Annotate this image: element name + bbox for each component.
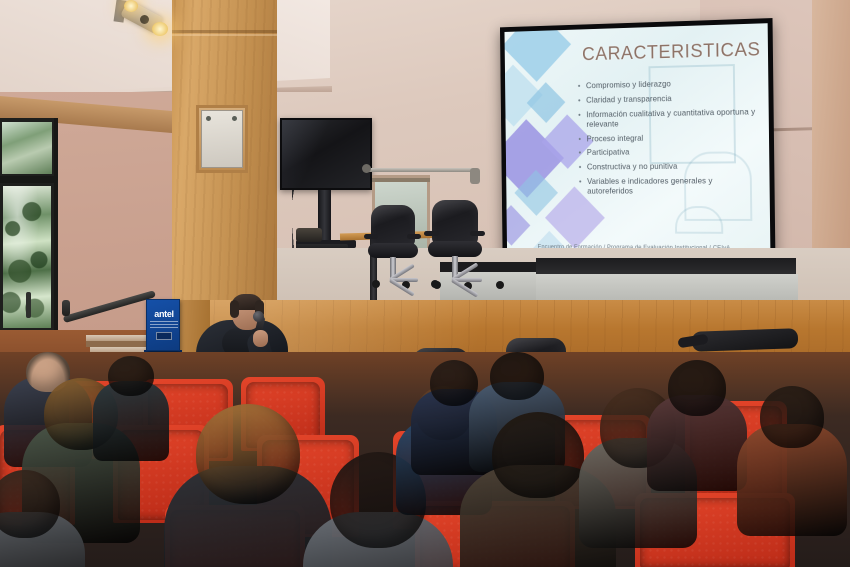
antel-sign-textlines [150, 321, 178, 329]
bullet-marker-icon: • [579, 149, 582, 157]
mount-arm-end [470, 168, 480, 184]
slide-title: CARACTERISTICAS [582, 39, 761, 66]
slide-bullet-item: •Participativa [579, 146, 758, 158]
bullet-marker-icon: • [578, 111, 581, 119]
column-seam [172, 30, 277, 33]
chair-armrest-left [364, 234, 378, 239]
microphone-head-icon [253, 311, 264, 322]
column-seam-light [172, 34, 277, 36]
chair-backrest [371, 205, 414, 247]
spotlight-knob [140, 15, 149, 24]
bullet-marker-icon: • [579, 164, 582, 172]
tv-screen-reflection [282, 120, 332, 188]
slide-bullet-text: Participativa [587, 148, 630, 158]
projection-screen: CARACTERISTICAS •Compromiso y liderazgo•… [500, 18, 776, 266]
slide-bullet-item: •Información cualitativa y cuantitativa … [578, 107, 757, 130]
antel-logo-text: antel [147, 309, 181, 319]
speaker-hair-left-side [230, 300, 239, 318]
bullet-marker-icon: • [578, 97, 581, 105]
person-orange-jacket-head [492, 412, 584, 498]
person-head-touch-head [490, 352, 544, 400]
person-long-hair-front-head [196, 404, 300, 504]
chair-seat [368, 243, 418, 258]
slide-bullet-item: •Compromiso y liderazgo [578, 77, 757, 91]
photo-scene: CARACTERISTICAS •Compromiso y liderazgo•… [0, 0, 850, 567]
decor-square [505, 205, 531, 245]
slide-bullet-item: •Constructiva y no punitiva [579, 161, 758, 173]
slide-bullet-text: Proceso integral [587, 133, 644, 144]
speaker-hand-holding-mic [253, 330, 268, 347]
chair-seat [428, 241, 481, 257]
office-chair [366, 205, 420, 309]
wall-dark-band-right [536, 258, 796, 274]
chair-caster [433, 281, 441, 289]
window-mullion [0, 176, 58, 183]
av-device [296, 228, 322, 242]
bullet-marker-icon: • [578, 83, 581, 91]
slide-bullet-text: Claridad y transparencia [586, 94, 672, 106]
chair-backrest [432, 200, 478, 245]
chair-caster [372, 280, 380, 288]
office-chair [426, 200, 484, 308]
mount-arm-joint [362, 164, 371, 173]
presentation-slide: CARACTERISTICAS •Compromiso y liderazgo•… [505, 23, 771, 260]
panel-dot-right [232, 116, 237, 121]
handrail-post [62, 300, 70, 316]
spotlight-lamp-secondary-icon [124, 0, 138, 12]
window-upper-pane [2, 122, 52, 174]
slide-bullet-text: Compromiso y liderazgo [586, 79, 671, 91]
projector-mount-arm [364, 168, 474, 172]
slide-bullet-text: Información cualitativa y cuantitativa o… [586, 107, 757, 130]
slide-bullet-item: •Variables e indicadores generales y aut… [579, 176, 758, 197]
chair-armrest-right [407, 234, 421, 239]
person-short-hair-blue-head [430, 360, 478, 406]
spotlight-lamp-icon [152, 22, 168, 36]
person-far-right-head [760, 386, 824, 448]
slide-bullet-item: •Proceso integral [578, 132, 757, 144]
person-bun-right-head [668, 360, 726, 416]
window-handle[interactable] [26, 292, 31, 318]
bullet-marker-icon: • [578, 135, 581, 143]
audience-area [0, 352, 850, 567]
panel-dot-left [206, 116, 211, 121]
bullet-marker-icon: • [579, 178, 582, 186]
slide-bullet-text: Variables e indicadores generales y auto… [587, 176, 758, 197]
antel-sign: antel [146, 299, 180, 351]
person-dark-head-back-head [108, 356, 154, 396]
slide-bullet-item: •Claridad y transparencia [578, 92, 757, 106]
slide-bullet-text: Constructiva y no punitiva [587, 162, 678, 173]
antel-sign-graphic [156, 332, 172, 340]
slide-bullet-list: •Compromiso y liderazgo•Claridad y trans… [578, 77, 758, 201]
chair-caster [496, 281, 504, 289]
door-header-bar [372, 178, 430, 182]
chair-armrest-left [424, 231, 439, 236]
chair-armrest-right [470, 231, 485, 236]
